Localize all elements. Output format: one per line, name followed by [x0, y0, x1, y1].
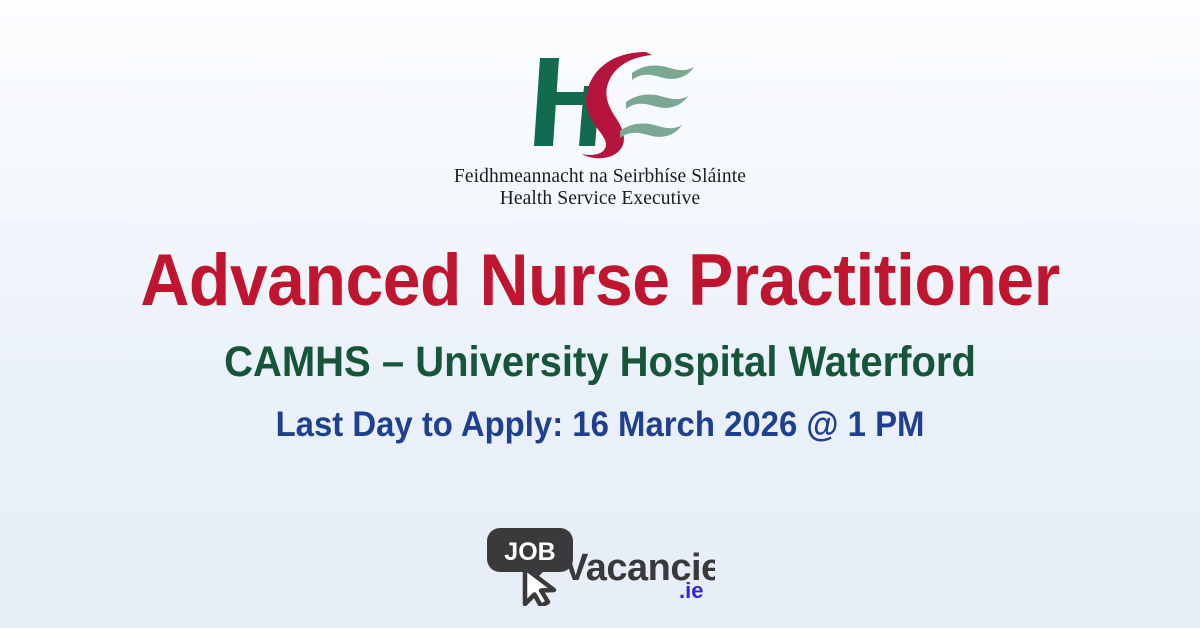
site-logo: JOB Vacancies .ie	[485, 524, 715, 606]
job-location: CAMHS – University Hospital Waterford	[42, 341, 1158, 384]
hse-wordmark: Feidhmeannacht na Seirbhíse Sláinte Heal…	[454, 166, 746, 210]
headline-stack: Advanced Nurse Practitioner CAMHS – Univ…	[0, 210, 1200, 442]
hse-logo-icon	[496, 48, 704, 160]
site-logo-tld: .ie	[679, 578, 703, 603]
job-title: Advanced Nurse Practitioner	[42, 244, 1158, 317]
hse-logo: Feidhmeannacht na Seirbhíse Sláinte Heal…	[454, 48, 746, 210]
job-vacancy-poster: Feidhmeannacht na Seirbhíse Sláinte Heal…	[0, 0, 1200, 628]
job-deadline: Last Day to Apply: 16 March 2026 @ 1 PM	[36, 407, 1164, 442]
hse-name-english: Health Service Executive	[454, 188, 746, 210]
hse-name-irish: Feidhmeannacht na Seirbhíse Sláinte	[454, 166, 746, 188]
job-badge-text: JOB	[504, 538, 555, 566]
